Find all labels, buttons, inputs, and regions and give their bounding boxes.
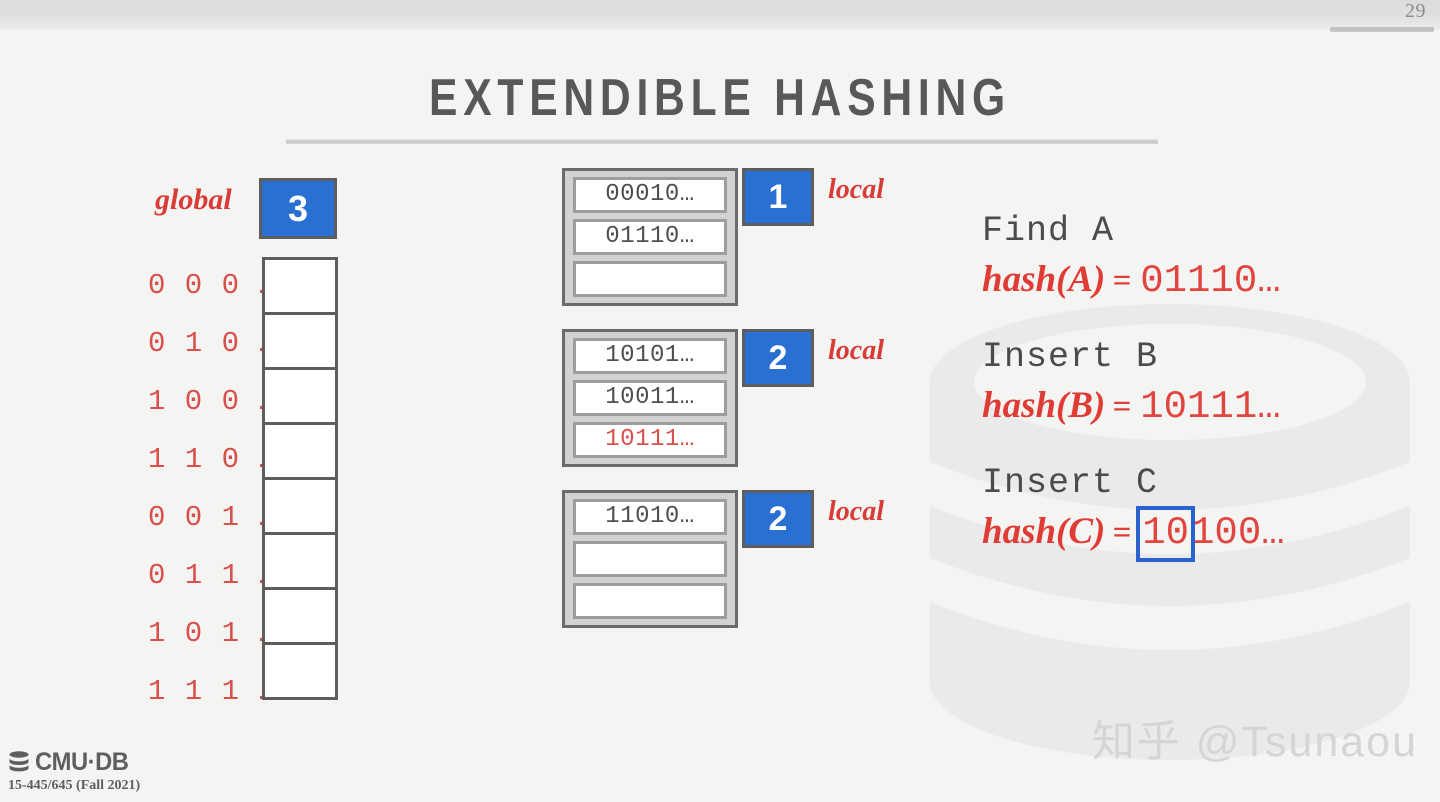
operation-title: Find A bbox=[982, 208, 1285, 254]
footer: CMU·DB 15-445/645 (Fall 2021) bbox=[8, 748, 140, 794]
bucket-slot[interactable] bbox=[573, 583, 727, 619]
operation-hash: hash(A) = 01110… bbox=[982, 254, 1285, 307]
hash-value-suffix: 10111… bbox=[1140, 385, 1280, 429]
operation-find-a: Find A hash(A) = 01110… bbox=[982, 208, 1285, 307]
equals-sign: = bbox=[1112, 507, 1131, 559]
hash-value-suffix: 100… bbox=[1191, 511, 1285, 555]
bucket-slot[interactable] bbox=[573, 541, 727, 577]
local-depth-badge: 2 bbox=[742, 329, 814, 387]
directory-cell[interactable] bbox=[262, 422, 338, 480]
equals-sign: = bbox=[1112, 255, 1131, 307]
directory-label: 1 1 0 … bbox=[148, 431, 254, 489]
operation-insert-c: Insert C hash(C) = 10100… bbox=[982, 460, 1285, 559]
page-title: EXTENDIBLE HASHING bbox=[130, 68, 1311, 128]
directory-label: 0 1 0 … bbox=[148, 315, 254, 373]
operation-title: Insert B bbox=[982, 334, 1285, 380]
local-depth-label: local bbox=[828, 335, 884, 367]
equals-sign: = bbox=[1112, 381, 1131, 433]
page-number-rule bbox=[1330, 27, 1434, 32]
hash-value: 01110… bbox=[1140, 255, 1280, 307]
bucket[interactable]: 10101… 10011… 10111… bbox=[562, 329, 738, 467]
operation-insert-b: Insert B hash(B) = 10111… bbox=[982, 334, 1285, 433]
bucket[interactable]: 00010… 01110… bbox=[562, 168, 738, 306]
local-depth-label: local bbox=[828, 174, 884, 206]
directory-cell[interactable] bbox=[262, 367, 338, 425]
operation-title: Insert C bbox=[982, 460, 1285, 506]
watermark-text: 知乎 @Tsunaou bbox=[1092, 707, 1418, 769]
directory-cell[interactable] bbox=[262, 642, 338, 700]
footer-brand: CMU·DB bbox=[35, 748, 128, 777]
directory-label: 1 0 0 … bbox=[148, 373, 254, 431]
directory-label: 1 0 1 … bbox=[148, 605, 254, 663]
hash-function-label: hash(A) bbox=[982, 254, 1105, 306]
bucket-slot[interactable]: 10011… bbox=[573, 380, 727, 416]
hash-function-label: hash(C) bbox=[982, 506, 1105, 558]
database-icon bbox=[8, 750, 32, 775]
directory-label: 1 1 1 … bbox=[148, 663, 254, 721]
hash-prefix-highlight-box: 10 bbox=[1140, 510, 1191, 558]
directory-cell[interactable] bbox=[262, 312, 338, 370]
global-depth-label: global bbox=[155, 183, 232, 217]
directory-cell[interactable] bbox=[262, 532, 338, 590]
local-depth-badge: 2 bbox=[742, 490, 814, 548]
bucket-slot[interactable] bbox=[573, 261, 727, 297]
local-depth-badge: 1 bbox=[742, 168, 814, 226]
bucket[interactable]: 11010… bbox=[562, 490, 738, 628]
global-depth-badge: 3 bbox=[259, 178, 337, 239]
bucket-slot[interactable]: 11010… bbox=[573, 499, 727, 535]
hash-function-label: hash(B) bbox=[982, 380, 1105, 432]
directory-labels: 0 0 0 … 0 1 0 … 1 0 0 … 1 1 0 … 0 0 1 … … bbox=[148, 257, 254, 721]
operations-list: Find A hash(A) = 01110… Insert B hash(B)… bbox=[982, 208, 1285, 586]
cmudb-logo: CMU·DB bbox=[8, 748, 140, 777]
footer-course: 15-445/645 (Fall 2021) bbox=[8, 778, 140, 794]
title-divider bbox=[286, 139, 1158, 144]
bucket-slot[interactable]: 01110… bbox=[573, 219, 727, 255]
local-depth-label: local bbox=[828, 496, 884, 528]
hash-value: 10111… bbox=[1140, 381, 1280, 433]
top-gradient-bar bbox=[0, 0, 1440, 30]
directory-label: 0 1 1 … bbox=[148, 547, 254, 605]
hash-value: 10100… bbox=[1140, 507, 1284, 559]
hash-value-suffix: 01110… bbox=[1140, 259, 1280, 303]
directory-cell[interactable] bbox=[262, 477, 338, 535]
directory-label: 0 0 1 … bbox=[148, 489, 254, 547]
directory-cell[interactable] bbox=[262, 587, 338, 645]
page-number: 29 bbox=[1405, 0, 1426, 23]
bucket-slot[interactable]: 10101… bbox=[573, 338, 727, 374]
directory-cell[interactable] bbox=[262, 257, 338, 315]
bucket-slot-new[interactable]: 10111… bbox=[573, 422, 727, 458]
slide-canvas: 29 EXTENDIBLE HASHING global 3 0 0 0 … 0… bbox=[0, 0, 1440, 802]
operation-hash: hash(C) = 10100… bbox=[982, 506, 1285, 559]
directory-table bbox=[262, 257, 338, 700]
directory-label: 0 0 0 … bbox=[148, 257, 254, 315]
bucket-slot[interactable]: 00010… bbox=[573, 177, 727, 213]
operation-hash: hash(B) = 10111… bbox=[982, 380, 1285, 433]
